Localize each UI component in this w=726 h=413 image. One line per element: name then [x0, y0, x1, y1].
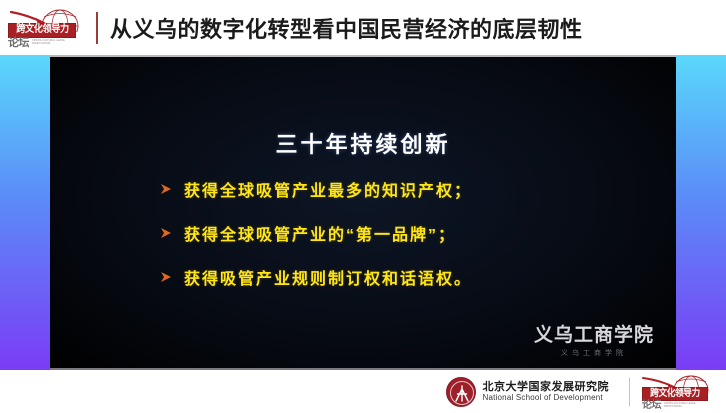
pku-logo-block[interactable]: 北京大学国家发展研究院 National School of Developme… — [446, 377, 610, 407]
page-footer: 北京大学国家发展研究院 National School of Developme… — [0, 370, 726, 413]
arrow-bullet-icon — [158, 226, 174, 240]
list-item: 获得全球吸管产业最多的知识产权； — [158, 177, 628, 201]
slide-bullet-list: 获得全球吸管产业最多的知识产权； 获得全球吸管产业的“第一品牌”； — [158, 177, 628, 309]
footer-forum-sub-cn: 论坛 — [642, 401, 661, 411]
pku-name-en: National School of Development — [483, 393, 610, 402]
screenshot-root: 跨文化领导力 论坛 CROSS-CULTURAL LEADERSHIP FORU… — [0, 0, 726, 413]
footer-forum-subtitle: 论坛 CROSS-CULTURAL LEADERSHIP FORUM — [642, 401, 696, 411]
forum-brand-logo[interactable]: 跨文化领导力 论坛 CROSS-CULTURAL LEADERSHIP FORU… — [6, 5, 88, 51]
forum-logo-banner-text: 跨文化领导力 — [16, 25, 68, 35]
footer-forum-banner: 跨文化领导力 — [642, 387, 708, 401]
footer-forum-logo[interactable]: 跨文化领导力 论坛 CROSS-CULTURAL LEADERSHIP FORU… — [640, 373, 718, 411]
pku-name-block: 北京大学国家发展研究院 National School of Developme… — [483, 381, 610, 403]
list-item-label: 获得吸管产业规则制订权和话语权。 — [184, 265, 472, 289]
slide-title: 三十年持续创新 — [50, 127, 676, 159]
video-stage: 三十年持续创新 获得全球吸管产业最多的知识产权； — [0, 55, 726, 370]
pku-seal-icon — [446, 377, 476, 407]
forum-logo-sub-cn: 论坛 — [8, 38, 29, 49]
list-item-label: 获得全球吸管产业最多的知识产权； — [184, 177, 472, 201]
presentation-slide[interactable]: 三十年持续创新 获得全球吸管产业最多的知识产权； — [50, 55, 676, 370]
arrow-bullet-icon — [158, 270, 174, 284]
header-divider — [96, 12, 98, 44]
list-item: 获得吸管产业规则制订权和话语权。 — [158, 265, 628, 289]
list-item-label: 获得全球吸管产业的“第一品牌”； — [184, 221, 456, 245]
arrow-bullet-icon-svg — [159, 182, 173, 196]
page-header: 跨文化领导力 论坛 CROSS-CULTURAL LEADERSHIP FORU… — [0, 0, 726, 55]
forum-logo-sub-en: CROSS-CULTURAL LEADERSHIP FORUM — [32, 39, 66, 45]
pku-name-cn: 北京大学国家发展研究院 — [483, 381, 610, 394]
arrow-bullet-icon — [158, 182, 174, 196]
footer-divider — [629, 378, 630, 406]
slide-watermark: 义乌工商学院 义乌工商学院 — [534, 320, 654, 358]
forum-logo-banner: 跨文化领导力 — [8, 23, 76, 38]
footer-forum-banner-text: 跨文化领导力 — [650, 389, 700, 399]
slide-watermark-title: 义乌工商学院 — [534, 320, 654, 347]
arrow-bullet-icon-svg — [159, 226, 173, 240]
page-title: 从义乌的数字化转型看中国民营经济的底层韧性 — [110, 12, 583, 44]
forum-logo-subtitle: 论坛 CROSS-CULTURAL LEADERSHIP FORUM — [8, 38, 66, 49]
slide-top-edge — [50, 55, 676, 57]
slide-watermark-subtitle: 义乌工商学院 — [534, 348, 654, 358]
pku-seal-glyph — [447, 378, 477, 408]
list-item: 获得全球吸管产业的“第一品牌”； — [158, 221, 628, 245]
arrow-bullet-icon-svg — [159, 270, 173, 284]
footer-forum-sub-en: CROSS-CULTURAL LEADERSHIP FORUM — [664, 402, 696, 411]
